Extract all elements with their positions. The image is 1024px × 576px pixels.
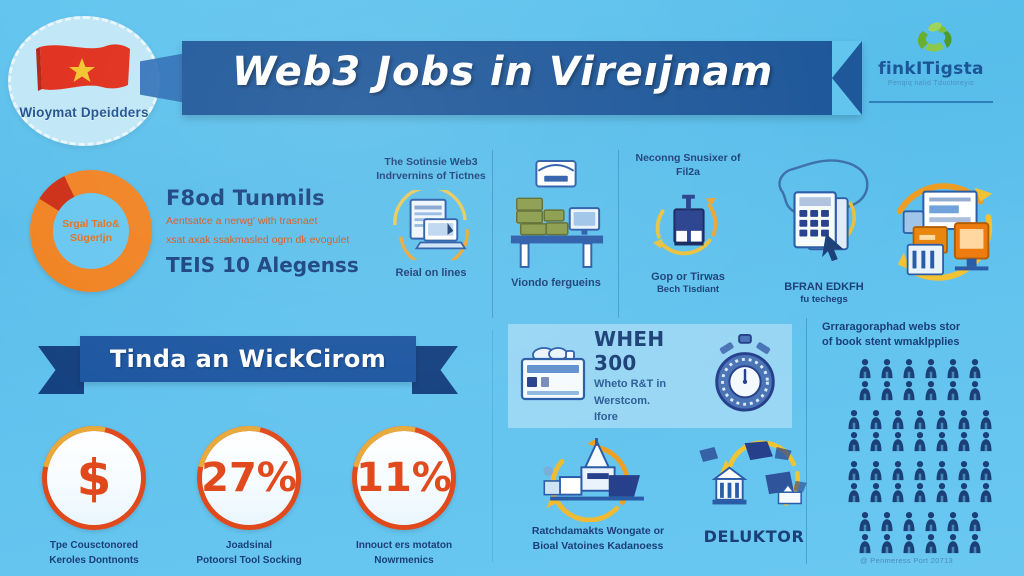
card-caption-bottom: Reial on lines xyxy=(372,266,490,280)
bottom-caption-line2: Bioal Vatoines Kadanoess xyxy=(506,539,690,554)
person-icon xyxy=(900,380,918,402)
bottom-icon-caption: DELUKTOR xyxy=(688,526,820,548)
person-icon xyxy=(856,533,874,555)
person-icon xyxy=(900,511,918,533)
bottom-caption-line1: Ratchdamakts Wongate or xyxy=(506,524,690,539)
person-icon xyxy=(878,511,896,533)
person-icon xyxy=(889,460,907,482)
kpi-caption-line1: Joadsinal xyxy=(179,538,319,553)
people-chart-title: Grraragoraphad webs stor of book stent w… xyxy=(822,320,1018,350)
card-caption-bottom-main: Gop or Tirwas xyxy=(651,271,725,283)
kpi-value: $ xyxy=(77,453,112,503)
person-icon xyxy=(845,431,863,453)
person-icon xyxy=(856,358,874,380)
person-icon xyxy=(966,533,984,555)
person-icon xyxy=(966,358,984,380)
person-icon xyxy=(944,511,962,533)
person-icon xyxy=(955,431,973,453)
people-groups xyxy=(822,358,1018,555)
person-icon xyxy=(889,431,907,453)
brand-logo: finkITigsta Penqiq nalid Tductoreyis xyxy=(856,22,1006,103)
kpi-caption-line2: Potoorsl Tool Socking xyxy=(179,553,319,568)
kpi-ring: 11% xyxy=(352,426,456,530)
card-caption-bottom: BFRAN EDKFH fu techegs xyxy=(760,280,888,307)
brand-name: finkITigsta xyxy=(856,59,1006,79)
panel-heading: WHEH 300 xyxy=(594,327,700,375)
people-row xyxy=(845,409,995,431)
bottom-icon-caption: Ratchdamakts Wongate or Bioal Vatoines K… xyxy=(506,524,690,553)
percent-11-kpi: 11% Innouct ers motaton Nowrmenics xyxy=(334,426,474,568)
panel-body-line1: Wheto R&T in xyxy=(594,377,700,392)
bank-globe-cycle-icon xyxy=(688,434,820,524)
card-caption-bottom: Gop or Tirwas Bech Tisdiant xyxy=(626,270,750,297)
card-caption-bottom-sub: Bech Tisdiant xyxy=(626,284,750,296)
footnote: @ Penmeress Port 20713 xyxy=(860,556,953,565)
title-ribbon: Web3 Jobs in Vireıjnam xyxy=(122,41,862,115)
person-icon xyxy=(955,482,973,504)
kpi-caption-line1: Tpe Cousctonored xyxy=(24,538,164,553)
person-icon xyxy=(944,380,962,402)
card-caption-top: Neconng Snusixer of Fil2a xyxy=(626,152,750,180)
kpi-caption-line2: Nowrmenics xyxy=(334,553,474,568)
donut-stat-text: F8od Tunmils Aentsatce a nerwg' with tra… xyxy=(166,186,366,277)
browser-card-icon xyxy=(516,343,588,410)
kpi-caption: Tpe Cousctonored Keroles Dontnonts xyxy=(24,538,164,568)
person-icon xyxy=(878,358,896,380)
stat-body-line2: xsat axak ssakmasled ogrn dk evogulet xyxy=(166,232,366,248)
kpi-row: $ Tpe Cousctonored Keroles Dontnonts 27%… xyxy=(24,426,474,568)
person-icon xyxy=(889,409,907,431)
section-title: Tinda an WickCirom xyxy=(80,336,416,382)
person-icon xyxy=(911,460,929,482)
recycle-leaf-logo-icon xyxy=(856,22,1006,58)
kpi-ring: $ xyxy=(42,426,146,530)
money-kpi: $ Tpe Cousctonored Keroles Dontnonts xyxy=(24,426,164,568)
person-icon xyxy=(966,511,984,533)
card-caption-top: The Sotinsie Web3 Indrvernins of Tictnes xyxy=(372,156,490,184)
person-icon xyxy=(922,358,940,380)
card-caption-bottom-main: BFRAN EDKFH xyxy=(784,281,863,293)
person-icon xyxy=(944,533,962,555)
calculator-map-card: BFRAN EDKFH fu techegs xyxy=(760,144,888,307)
person-icon xyxy=(900,358,918,380)
factory-cycle-icon xyxy=(626,186,750,264)
people-row xyxy=(856,380,984,402)
kpi-caption-line2: Keroles Dontnonts xyxy=(24,553,164,568)
kpi-caption: Innouct ers motaton Nowrmenics xyxy=(334,538,474,568)
person-icon xyxy=(845,409,863,431)
document-laptop-icon xyxy=(372,190,490,260)
people-group xyxy=(822,409,1018,453)
person-icon xyxy=(977,460,995,482)
person-icon xyxy=(977,431,995,453)
person-icon xyxy=(911,431,929,453)
people-row xyxy=(856,358,984,380)
person-icon xyxy=(889,482,907,504)
donut-chart-block: Srgal Talo& Sügerljn xyxy=(30,170,152,292)
brand-divider xyxy=(869,101,993,103)
person-icon xyxy=(856,511,874,533)
brand-tagline: Penqiq nalid Tductoreyis xyxy=(856,80,1006,87)
section-ribbon: Tinda an WickCirom xyxy=(38,336,458,396)
infographic-poster: Wioymat Dpeidders Web3 Jobs in Vireıjnam… xyxy=(0,0,1024,576)
devices-cycle-icon xyxy=(876,166,1018,296)
factory-growth-card: Neconng Snusixer of Fil2a Gop or Tirwas … xyxy=(626,152,750,296)
kpi-value: 11% xyxy=(356,458,452,498)
person-icon xyxy=(900,533,918,555)
person-icon xyxy=(922,511,940,533)
person-icon xyxy=(867,482,885,504)
column-divider-4 xyxy=(492,330,493,562)
card-caption-bottom-sub: fu techegs xyxy=(760,294,888,306)
person-icon xyxy=(944,358,962,380)
kpi-caption-line1: Innouct ers motaton xyxy=(334,538,474,553)
people-group xyxy=(822,358,1018,402)
desk-equipment-card: Viondo fergueins xyxy=(500,158,612,290)
percent-27-kpi: 27% Joadsinal Potoorsl Tool Socking xyxy=(179,426,319,568)
people-title-line2: of book stent wmaklpplies xyxy=(822,335,1018,350)
stat-body-line1: Aentsatce a nerwg' with trasnaet xyxy=(166,213,366,229)
ribbon2-tail-right xyxy=(412,346,458,394)
vietnam-flag-icon xyxy=(32,41,136,99)
kpi-ring: 27% xyxy=(197,426,301,530)
calculator-map-icon xyxy=(760,144,888,274)
page-title: Web3 Jobs in Vireıjnam xyxy=(232,49,773,95)
panel-body-line2: Werstcom. xyxy=(594,394,700,409)
global-bank-icon-block: DELUKTOR xyxy=(688,434,820,548)
industry-cycle-icon-block: Ratchdamakts Wongate or Bioal Vatoines K… xyxy=(506,438,690,553)
people-group xyxy=(822,460,1018,504)
person-icon xyxy=(878,380,896,402)
people-row xyxy=(845,460,995,482)
person-icon xyxy=(933,482,951,504)
industry-ship-cycle-icon xyxy=(506,438,690,522)
person-icon xyxy=(933,431,951,453)
stopwatch-icon xyxy=(706,333,784,420)
person-icon xyxy=(977,482,995,504)
donut-label-line1: Srgal Talo& xyxy=(62,217,120,231)
people-row xyxy=(845,431,995,453)
ribbon2-tail-left xyxy=(38,346,84,394)
person-icon xyxy=(856,380,874,402)
person-icon xyxy=(955,460,973,482)
people-row xyxy=(845,482,995,504)
person-icon xyxy=(922,533,940,555)
person-icon xyxy=(933,409,951,431)
people-title-line1: Grraragoraphad webs stor xyxy=(822,320,1018,335)
person-icon xyxy=(878,533,896,555)
kpi-caption: Joadsinal Potoorsl Tool Socking xyxy=(179,538,319,568)
person-icon xyxy=(966,380,984,402)
web3-documents-card: The Sotinsie Web3 Indrvernins of Tictnes… xyxy=(372,156,490,280)
desk-monitor-boxes-icon xyxy=(500,158,612,270)
column-divider-2 xyxy=(618,150,619,318)
devices-cycle-card xyxy=(876,166,1018,296)
donut-chart: Srgal Talo& Sügerljn xyxy=(30,170,152,292)
person-icon xyxy=(845,460,863,482)
donut-label-line2: Sügerljn xyxy=(70,231,112,245)
person-icon xyxy=(845,482,863,504)
person-icon xyxy=(867,431,885,453)
kpi-value: 27% xyxy=(201,458,297,498)
person-icon xyxy=(933,460,951,482)
person-icon xyxy=(977,409,995,431)
panel-body-line3: Ifore xyxy=(594,410,700,425)
people-pictogram: Grraragoraphad webs stor of book stent w… xyxy=(822,320,1018,562)
column-divider-1 xyxy=(492,150,493,318)
people-row xyxy=(856,511,984,533)
person-icon xyxy=(867,409,885,431)
person-icon xyxy=(911,482,929,504)
people-group xyxy=(822,511,1018,555)
stat-subheading: TEIS 10 Alegenss xyxy=(166,253,366,277)
card-caption-bottom: Viondo fergueins xyxy=(500,276,612,290)
panel-text: WHEH 300 Wheto R&T in Werstcom. Ifore xyxy=(594,327,700,426)
person-icon xyxy=(911,409,929,431)
person-icon xyxy=(955,409,973,431)
person-icon xyxy=(867,460,885,482)
people-row xyxy=(856,533,984,555)
donut-center-label: Srgal Talo& Sügerljn xyxy=(53,193,129,269)
stat-heading: F8od Tunmils xyxy=(166,186,366,210)
highlight-panel: WHEH 300 Wheto R&T in Werstcom. Ifore xyxy=(508,324,792,428)
person-icon xyxy=(922,380,940,402)
